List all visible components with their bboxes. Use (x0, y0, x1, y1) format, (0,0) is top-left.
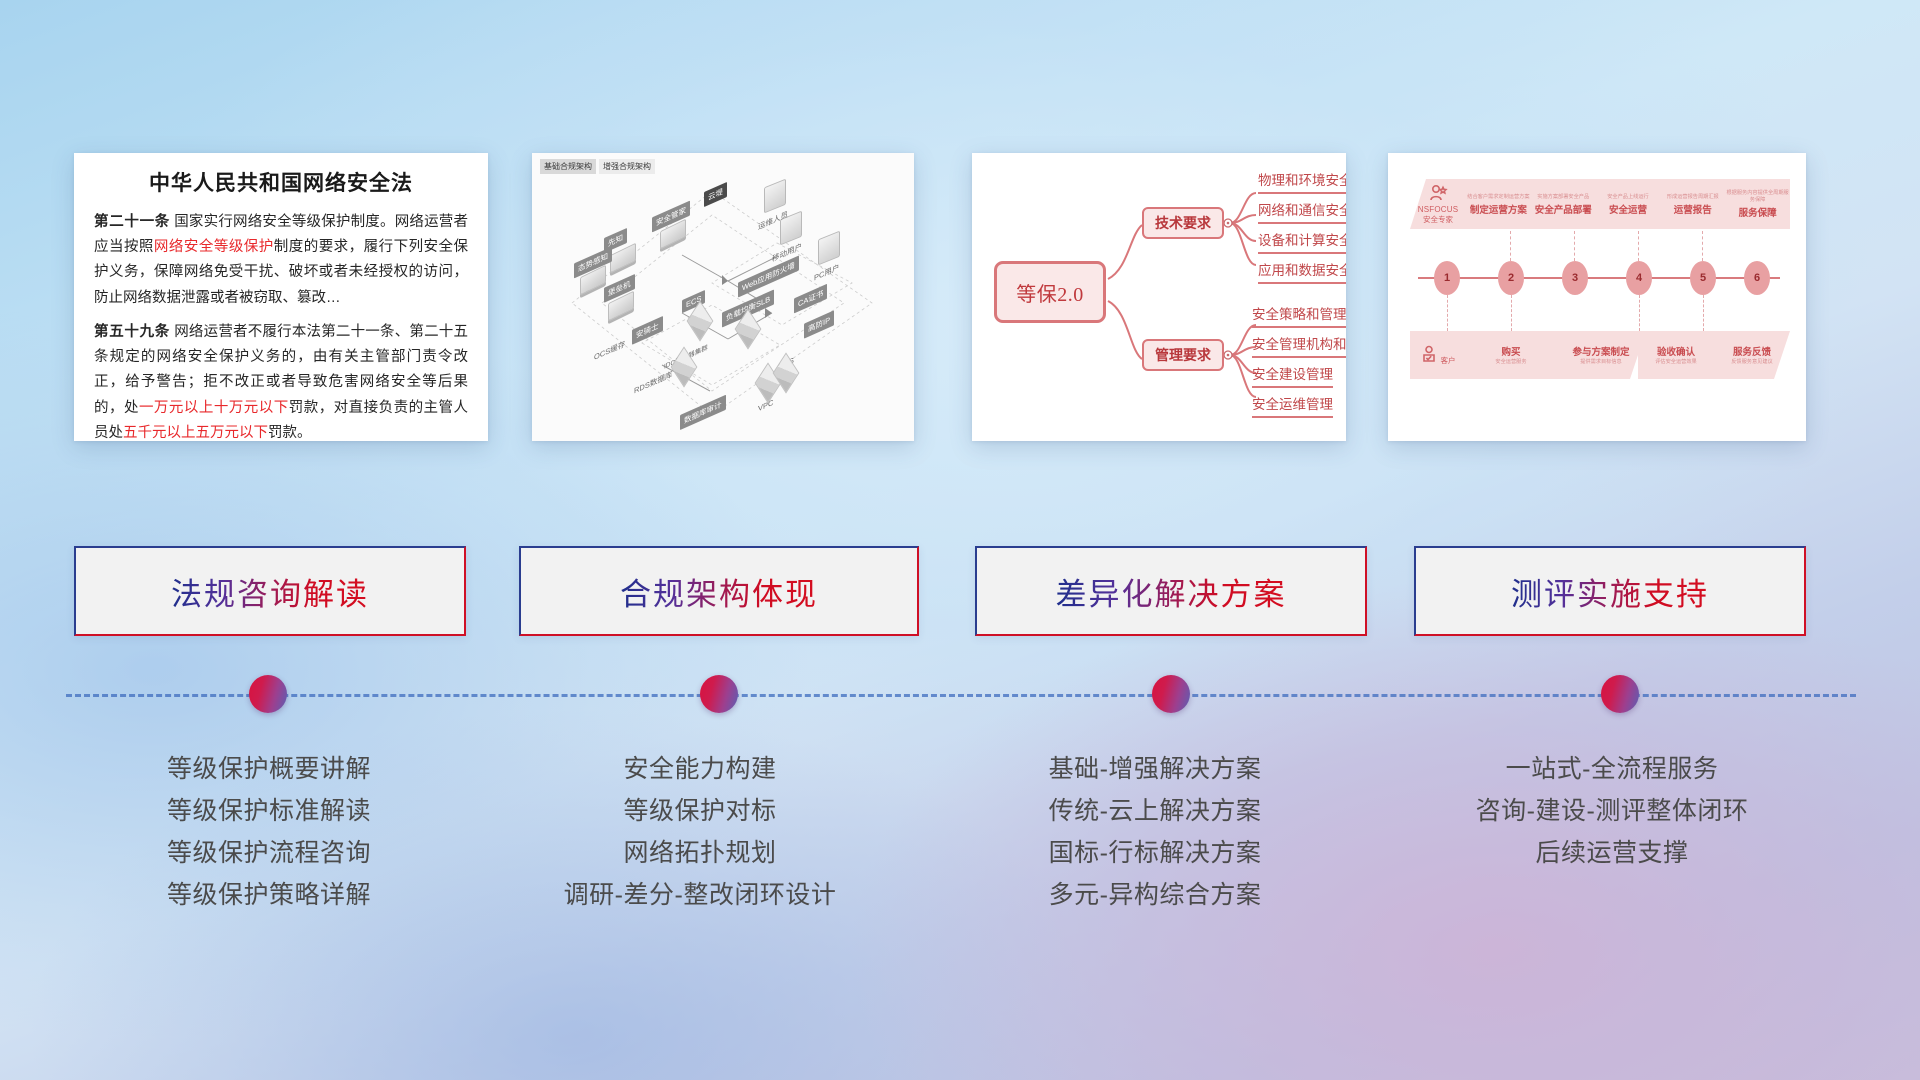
mindmap-leaf-physical-env: 物理和环境安全 (1258, 169, 1346, 194)
headline-label-4: 测评实施支持 (1511, 569, 1709, 614)
headline-box-differentiated-solution[interactable]: 差异化解决方案 (975, 546, 1367, 636)
detail-column-4: 一站式-全流程服务 咨询-建设-测评整体闭环 后续运营支撑 (1412, 748, 1812, 874)
headline-row: 法规咨询解读 合规架构体现 差异化解决方案 测评实施支持 (0, 546, 1920, 646)
article-21-label: 第二十一条 (94, 214, 170, 230)
list-item: 网络拓扑规划 (500, 832, 900, 874)
article-59-text-c: 罚款。 (268, 425, 312, 441)
list-item: 安全能力构建 (500, 748, 900, 790)
architecture-tabs[interactable]: 基础合规架构 增强合规架构 (540, 159, 655, 174)
list-item: 多元-异构综合方案 (955, 874, 1355, 916)
timeline-bottom-step-1: 购买 安全运营服务 (1466, 344, 1556, 367)
timeline-top-step-1-label: 制定运营方案 (1466, 202, 1531, 216)
timeline-bottom-step-2-caption: 提供需求目标信息 (1556, 358, 1646, 365)
list-item: 等级保护策略详解 (74, 874, 464, 916)
list-item: 咨询-建设-测评整体闭环 (1412, 790, 1812, 832)
timeline-link-top-4 (1638, 231, 1639, 261)
timeline-axis-line (1418, 277, 1780, 279)
mindmap-leaf-device-compute: 设备和计算安全 (1258, 229, 1346, 254)
list-item: 调研-差分-整改闭环设计 (500, 874, 900, 916)
article-59-label: 第五十九条 (94, 324, 170, 340)
arch-node-ecs: ECS (682, 299, 712, 333)
timeline-link-top-5 (1702, 231, 1703, 261)
mindmap-leaf-org-personnel: 安全管理机构和人员 (1252, 333, 1346, 358)
timeline-bottom-step-3-caption: 评估安全运营效果 (1638, 358, 1714, 365)
law-article-59: 第五十九条 网络运营者不履行本法第二十一条、第二十五条规定的网络安全保护义务的，… (94, 320, 468, 441)
process-timeline-line (66, 694, 1856, 697)
headline-label-2: 合规架构体现 (620, 569, 818, 614)
timeline-node-6: 6 (1744, 261, 1770, 295)
timeline-link-bot-4 (1703, 295, 1704, 331)
list-item: 国标-行标解决方案 (955, 832, 1355, 874)
timeline-top-step-5-caption: 根据服务内容提供全周期服务保障 (1725, 189, 1790, 203)
detail-column-1: 等级保护概要讲解 等级保护标准解读 等级保护流程咨询 等级保护策略详解 (74, 748, 464, 916)
mindmap-leaf-construction-mgmt: 安全建设管理 (1252, 363, 1333, 388)
timeline-top-step-3: 安全产品上线运行 安全运营 (1596, 193, 1661, 216)
list-item: 一站式-全流程服务 (1412, 748, 1812, 790)
article-59-highlight-2: 五千元以上五万元以下 (123, 425, 268, 441)
article-21-highlight: 网络安全等级保护 (154, 239, 274, 255)
card-cybersecurity-law[interactable]: 中华人民共和国网络安全法 第二十一条 国家实行网络安全等级保护制度。网络运营者应… (74, 153, 488, 441)
timeline-node-3: 3 (1562, 261, 1588, 295)
mindmap-branch-management: 管理要求 (1142, 339, 1224, 371)
timeline-link-bot-1 (1447, 295, 1448, 331)
timeline-bottom-step-3-label: 验收确认 (1638, 344, 1714, 358)
headline-box-regulation-consulting[interactable]: 法规咨询解读 (74, 546, 466, 636)
timeline-customer-band-right: 验收确认 评估安全运营效果 服务反馈 反馈服务意见建议 (1638, 331, 1790, 379)
list-item: 等级保护概要讲解 (74, 748, 464, 790)
timeline-bottom-step-4-label: 服务反馈 (1714, 344, 1790, 358)
architecture-tab-enhanced[interactable]: 增强合规架构 (599, 159, 655, 174)
timeline-top-step-5-label: 服务保障 (1725, 205, 1790, 219)
detail-column-row: 等级保护概要讲解 等级保护标准解读 等级保护流程咨询 等级保护策略详解 安全能力… (0, 748, 1920, 1048)
timeline-node-1: 1 (1434, 261, 1460, 295)
timeline-persona-expert: NSFOCUS 安全专家 (1410, 184, 1466, 224)
list-item: 后续运营支撑 (1412, 832, 1812, 874)
timeline-top-step-1-caption: 结合客户需求定制运营方案 (1466, 193, 1531, 200)
timeline-bottom-step-2-label: 参与方案制定 (1556, 344, 1646, 358)
mindmap-leaf-policy-system: 安全策略和管理制度 (1252, 303, 1346, 328)
card-service-timeline[interactable]: NSFOCUS 安全专家 结合客户需求定制运营方案 制定运营方案 实施方案部署安… (1388, 153, 1806, 441)
headline-box-assessment-support[interactable]: 测评实施支持 (1414, 546, 1806, 636)
service-timeline-diagram: NSFOCUS 安全专家 结合客户需求定制运营方案 制定运营方案 实施方案部署安… (1388, 153, 1806, 441)
timeline-top-step-2-caption: 实施方案部署安全产品 (1531, 193, 1596, 200)
list-item: 等级保护对标 (500, 790, 900, 832)
timeline-expert-band: NSFOCUS 安全专家 结合客户需求定制运营方案 制定运营方案 实施方案部署安… (1410, 179, 1790, 229)
timeline-node-5: 5 (1690, 261, 1716, 295)
timeline-node-2: 2 (1498, 261, 1524, 295)
detail-column-2: 安全能力构建 等级保护对标 网络拓扑规划 调研-差分-整改闭环设计 (500, 748, 900, 916)
card-dengbao-mindmap[interactable]: 等保2.0 技术要求 管理要求 物理和环境安全 网络和通信安全 设备和计算安全 … (972, 153, 1346, 441)
expert-brand-label: NSFOCUS (1418, 205, 1459, 214)
timeline-bottom-step-4-caption: 反馈服务意见建议 (1714, 358, 1790, 365)
law-content: 中华人民共和国网络安全法 第二十一条 国家实行网络安全等级保护制度。网络运营者应… (74, 153, 488, 441)
card-compliance-architecture[interactable]: 基础合规架构 增强合规架构 (532, 153, 914, 441)
headline-box-compliance-architecture[interactable]: 合规架构体现 (519, 546, 919, 636)
customer-person-icon (1420, 345, 1438, 363)
article-59-highlight-1: 一万元以上十万元以下 (139, 400, 289, 416)
mindmap: 等保2.0 技术要求 管理要求 物理和环境安全 网络和通信安全 设备和计算安全 … (972, 153, 1346, 441)
timeline-top-step-2-label: 安全产品部署 (1531, 202, 1596, 216)
list-item: 传统-云上解决方案 (955, 790, 1355, 832)
timeline-bottom-step-4: 服务反馈 反馈服务意见建议 (1714, 344, 1790, 367)
process-timeline-dot-3[interactable] (1152, 675, 1190, 713)
timeline-bottom-step-3: 验收确认 评估安全运营效果 (1638, 344, 1714, 367)
list-item: 基础-增强解决方案 (955, 748, 1355, 790)
arch-node-idc-cluster: IDC服务器集群 (660, 349, 696, 379)
timeline-node-4: 4 (1626, 261, 1652, 295)
preview-card-row: 中华人民共和国网络安全法 第二十一条 国家实行网络安全等级保护制度。网络运营者应… (0, 0, 1920, 470)
process-timeline-dot-4[interactable] (1601, 675, 1639, 713)
timeline-link-bot-3 (1639, 295, 1640, 331)
timeline-link-top-3 (1574, 231, 1575, 261)
timeline-bottom-step-2: 参与方案制定 提供需求目标信息 (1556, 344, 1646, 367)
timeline-bottom-step-1-caption: 安全运营服务 (1466, 358, 1556, 365)
customer-role-label: 客户 (1441, 356, 1456, 365)
list-item: 等级保护流程咨询 (74, 832, 464, 874)
law-title: 中华人民共和国网络安全法 (94, 167, 468, 197)
timeline-top-step-4-label: 运营报告 (1660, 202, 1725, 216)
timeline-top-step-1: 结合客户需求定制运营方案 制定运营方案 (1466, 193, 1531, 216)
mindmap-leaf-network-comm: 网络和通信安全 (1258, 199, 1346, 224)
arch-node-oss: OSS (774, 357, 798, 385)
expert-person-icon (1428, 184, 1448, 202)
list-item: 等级保护标准解读 (74, 790, 464, 832)
mindmap-leaf-operations-mgmt: 安全运维管理 (1252, 393, 1333, 418)
arch-node-slb: 负载均衡SLB (722, 305, 760, 341)
timeline-link-top-2 (1510, 231, 1511, 261)
timeline-top-step-2: 实施方案部署安全产品 安全产品部署 (1531, 193, 1596, 216)
timeline-top-step-3-caption: 安全产品上线运行 (1596, 193, 1661, 200)
timeline-top-step-5: 根据服务内容提供全周期服务保障 服务保障 (1725, 189, 1790, 219)
headline-label-1: 法规咨询解读 (171, 569, 369, 614)
timeline-persona-customer: 客户 (1410, 345, 1466, 365)
headline-label-3: 差异化解决方案 (1056, 569, 1287, 614)
mindmap-root-node: 等保2.0 (994, 261, 1106, 323)
mindmap-branch-technical: 技术要求 (1142, 207, 1224, 239)
arch-node-situational-awareness: 态势感知 (574, 257, 606, 289)
timeline-top-step-4: 形成运营报告周期汇报 运营报告 (1660, 193, 1725, 216)
process-timeline-dot-1[interactable] (249, 675, 287, 713)
mindmap-leaf-app-data: 应用和数据安全 (1258, 259, 1346, 284)
timeline-top-step-4-caption: 形成运营报告周期汇报 (1660, 193, 1725, 200)
architecture-tab-basic[interactable]: 基础合规架构 (540, 159, 596, 174)
timeline-top-step-3-label: 安全运营 (1596, 202, 1661, 216)
process-timeline-dot-2[interactable] (700, 675, 738, 713)
expert-role-label: 安全专家 (1423, 215, 1453, 224)
timeline-link-bot-2 (1511, 295, 1512, 331)
timeline-bottom-step-1-label: 购买 (1466, 344, 1556, 358)
law-article-21: 第二十一条 国家实行网络安全等级保护制度。网络运营者应当按照网络安全等级保护制度… (94, 210, 468, 311)
architecture-diagram: 基础合规架构 增强合规架构 (532, 153, 914, 441)
timeline-customer-band: 客户 购买 安全运营服务 参与方案制定 提供需求目标信息 (1410, 331, 1646, 379)
arch-node-bastion-host: 堡垒机 (604, 283, 634, 315)
arch-node-security-steward: 安全管家 (652, 211, 686, 243)
detail-column-3: 基础-增强解决方案 传统-云上解决方案 国标-行标解决方案 多元-异构综合方案 (955, 748, 1355, 916)
